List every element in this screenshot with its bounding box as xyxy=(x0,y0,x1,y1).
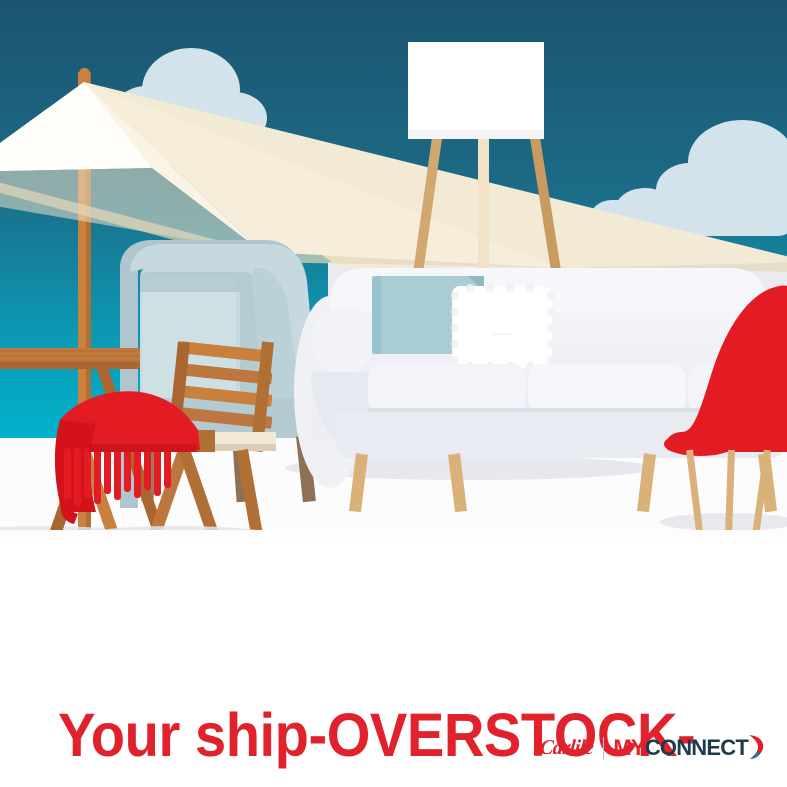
lamp-shade-base xyxy=(408,130,544,139)
lamp-shade xyxy=(408,42,544,138)
logo-divider xyxy=(603,737,605,760)
arrow-swoosh-icon xyxy=(747,733,765,765)
sofa-cushion-left xyxy=(368,364,526,414)
blanket-shadow-edge xyxy=(88,444,198,452)
floor-foreground xyxy=(0,530,787,538)
side-table-top-edge xyxy=(0,362,140,369)
myconnect-wordmark: MY CONNECT xyxy=(613,732,765,764)
sofa-cushion-mid xyxy=(528,364,686,414)
red-chair-seat-edge xyxy=(664,432,736,456)
advertisement-canvas: ~~~ xyxy=(0,0,787,787)
side-table-slats xyxy=(0,350,140,362)
carlile-wordmark: Carlile xyxy=(539,737,594,758)
myconnect-suffix: CONNECT xyxy=(645,737,748,759)
logo-lockup[interactable]: Carlile MY CONNECT xyxy=(539,733,765,763)
myconnect-prefix: MY xyxy=(613,737,644,759)
svg-text:~~~: ~~~ xyxy=(492,329,511,341)
fluffy-white-pillow: ~~~ xyxy=(451,284,555,370)
illustration-scene: ~~~ xyxy=(0,0,787,538)
teal-pillow-edge xyxy=(372,276,381,354)
sofa-arm-left-cap xyxy=(311,306,375,374)
